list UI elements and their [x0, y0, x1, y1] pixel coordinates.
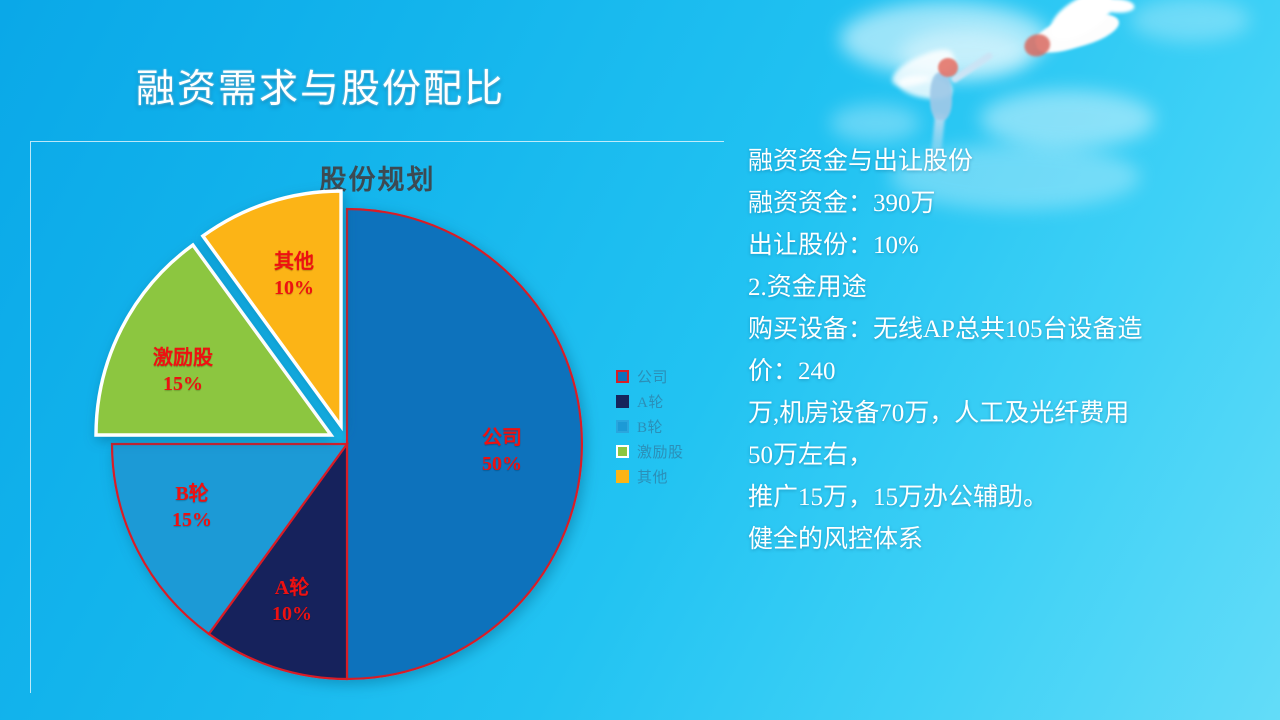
legend-swatch-gongsi — [616, 370, 629, 383]
figure-arm — [950, 51, 994, 84]
legend-item-a-round[interactable]: A轮 — [616, 389, 726, 414]
bird-icon — [1014, 0, 1146, 77]
legend-swatch-incentive — [616, 445, 629, 458]
chart-panel: 股份规划 — [30, 141, 724, 693]
legend-label-other: 其他 — [637, 466, 668, 487]
pie-chart: 公司 50% A轮 10% B轮 15% 激励股 15% 其他 10% — [47, 194, 627, 684]
presentation-slide: 融资需求与股份配比 股份规划 — [0, 0, 1280, 720]
content-line: 万,机房设备70万，人工及光纤费用 — [748, 393, 1268, 435]
bird-body — [1032, 6, 1123, 59]
cloud-shape — [980, 90, 1155, 148]
content-line: 50万左右， — [748, 435, 1268, 477]
legend-item-gongsi[interactable]: 公司 — [616, 364, 726, 389]
figure-body — [930, 72, 952, 120]
cloud-shape — [900, 28, 1030, 80]
pie-chart-svg — [47, 194, 627, 684]
legend-item-other[interactable]: 其他 — [616, 464, 726, 489]
legend-swatch-other — [616, 470, 629, 483]
figure-head — [938, 58, 958, 77]
cloud-shape — [830, 104, 920, 142]
chart-legend: 公司 A轮 B轮 激励股 其他 — [616, 364, 726, 489]
figure-wing-right — [897, 71, 954, 102]
cloud-shape — [840, 2, 1050, 76]
content-line: 推广15万，15万办公辅助。 — [748, 477, 1268, 519]
content-line: 出让股份：10% — [748, 225, 1268, 267]
content-line: 融资资金：390万 — [748, 183, 1268, 225]
content-line: 购买设备：无线AP总共105台设备造 — [748, 309, 1268, 351]
legend-label-b-round: B轮 — [637, 416, 663, 437]
bird-wing — [1042, 0, 1120, 48]
figure-wing-left — [888, 45, 959, 94]
bird-head — [1022, 31, 1053, 59]
legend-item-incentive[interactable]: 激励股 — [616, 439, 726, 464]
cloud-shape — [1130, 0, 1250, 42]
content-line: 价：240 — [748, 351, 1268, 393]
content-line: 健全的风控体系 — [748, 519, 1268, 561]
pie-slice-gongsi[interactable] — [347, 209, 582, 679]
content-line: 2.资金用途 — [748, 267, 1268, 309]
legend-label-gongsi: 公司 — [637, 366, 668, 387]
legend-label-incentive: 激励股 — [637, 441, 684, 462]
legend-item-b-round[interactable]: B轮 — [616, 414, 726, 439]
legend-swatch-a-round — [616, 395, 629, 408]
slide-title: 融资需求与股份配比 — [136, 68, 505, 113]
content-text-block: 融资资金与出让股份 融资资金：390万 出让股份：10% 2.资金用途 购买设备… — [748, 141, 1268, 561]
content-line: 融资资金与出让股份 — [748, 141, 1268, 183]
legend-swatch-b-round — [616, 420, 629, 433]
chart-title: 股份规划 — [31, 158, 724, 197]
bird-tail — [1100, 0, 1134, 13]
legend-label-a-round: A轮 — [637, 391, 664, 412]
